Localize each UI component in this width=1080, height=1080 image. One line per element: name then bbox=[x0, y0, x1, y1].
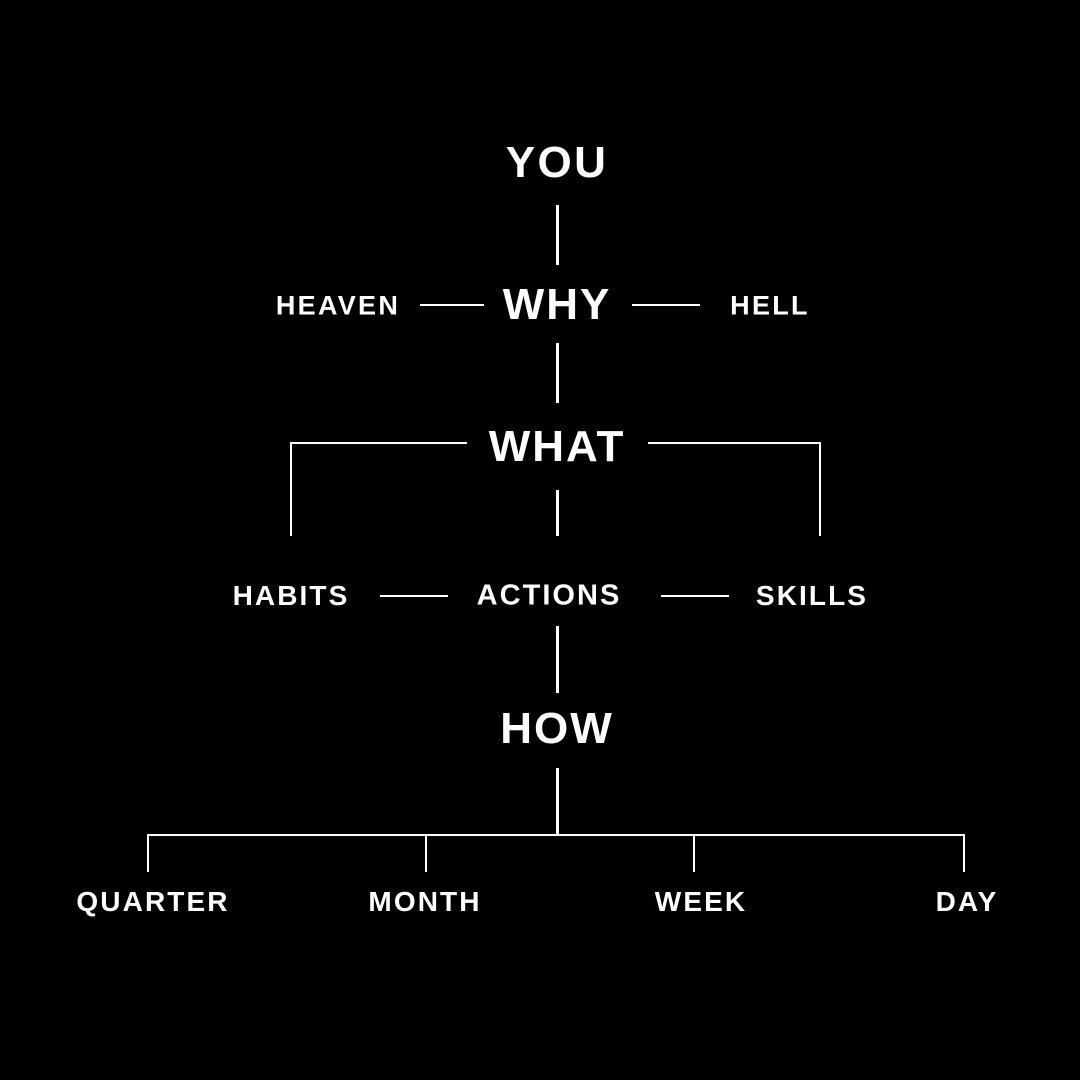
node-what: WHAT bbox=[489, 425, 626, 469]
node-skills: SKILLS bbox=[756, 582, 868, 610]
bracket-what-right-arm bbox=[648, 442, 821, 444]
connector-why-what bbox=[556, 343, 559, 403]
node-day: DAY bbox=[936, 888, 999, 916]
bracket-what-left-drop bbox=[290, 442, 292, 536]
node-heaven: HEAVEN bbox=[276, 293, 400, 320]
connector-habits-actions bbox=[380, 595, 448, 597]
node-how: HOW bbox=[500, 707, 613, 751]
connector-heaven-why bbox=[420, 304, 484, 306]
bracket-what-right-drop bbox=[819, 442, 821, 536]
connector-why-hell bbox=[632, 304, 700, 306]
bracket-tick-day bbox=[963, 834, 965, 872]
diagram-canvas: YOU HEAVEN WHY HELL WHAT HABITS ACTIONS … bbox=[0, 0, 1080, 1080]
connector-how-timeframes bbox=[556, 768, 559, 835]
node-you: YOU bbox=[506, 141, 609, 185]
connector-actions-skills bbox=[661, 595, 729, 597]
node-week: WEEK bbox=[655, 888, 747, 916]
connector-you-why bbox=[556, 205, 559, 265]
bracket-tick-month bbox=[425, 834, 427, 872]
connector-what-actions bbox=[556, 490, 559, 536]
node-actions: ACTIONS bbox=[477, 582, 622, 611]
node-month: MONTH bbox=[368, 888, 481, 916]
node-why: WHY bbox=[503, 283, 612, 327]
bracket-timeframes-rail bbox=[147, 834, 965, 836]
node-hell: HELL bbox=[730, 293, 810, 320]
connector-actions-how bbox=[556, 626, 559, 693]
bracket-tick-week bbox=[693, 834, 695, 872]
bracket-tick-quarter bbox=[147, 834, 149, 872]
node-habits: HABITS bbox=[233, 582, 350, 610]
node-quarter: QUARTER bbox=[76, 888, 229, 916]
bracket-what-left-arm bbox=[290, 442, 467, 444]
